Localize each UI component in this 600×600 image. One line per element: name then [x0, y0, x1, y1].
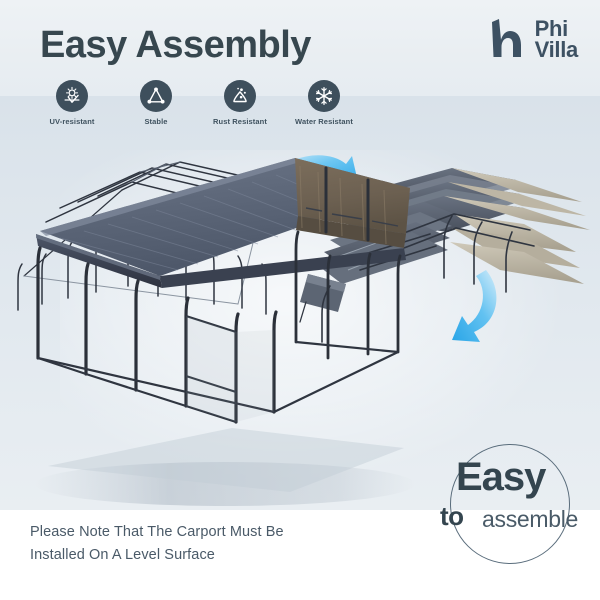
badge-word-assemble: assemble: [482, 508, 578, 531]
feature-icon-circle: [308, 80, 340, 112]
infographic-poster: Easy Assembly Phi Villa: [0, 0, 600, 600]
snowflake-icon: [313, 85, 335, 107]
feature-label: Stable: [144, 117, 167, 126]
page-title: Easy Assembly: [40, 26, 311, 64]
feature-water-resistant: Water Resistant: [282, 80, 366, 126]
triangle-nodes-icon: [145, 85, 167, 107]
feature-icon-circle: [56, 80, 88, 112]
badge-word-easy: Easy: [456, 457, 545, 497]
assembled-carport-product: [35, 158, 415, 506]
feature-label: UV-resistant: [50, 117, 95, 126]
note-line-2: Installed On A Level Surface: [30, 544, 284, 567]
feature-stable: Stable: [114, 80, 198, 126]
feature-icon-circle: [224, 80, 256, 112]
brand-line-2: Villa: [535, 39, 578, 60]
installation-note: Please Note That The Carport Must Be Ins…: [30, 521, 284, 568]
phivilla-hook-logo-icon: [488, 18, 528, 60]
sun-uv-shield-icon: [61, 85, 83, 107]
feature-label: Rust Resistant: [213, 117, 267, 126]
brand-line-1: Phi: [535, 18, 578, 39]
brand-logo: Phi Villa: [488, 18, 578, 60]
feature-rust-resistant: Rust Resistant: [198, 80, 282, 126]
note-line-1: Please Note That The Carport Must Be: [30, 521, 284, 544]
feature-label: Water Resistant: [295, 117, 353, 126]
feature-uv-resistant: UV-resistant: [30, 80, 114, 126]
easy-to-assemble-badge: Easy to assemble: [434, 440, 586, 582]
badge-word-to: to: [440, 503, 464, 529]
feature-badges: UV-resistant Stable: [30, 80, 366, 126]
brand-wordmark: Phi Villa: [535, 18, 578, 60]
water-drop-sparkle-icon: [229, 85, 251, 107]
feature-icon-circle: [140, 80, 172, 112]
